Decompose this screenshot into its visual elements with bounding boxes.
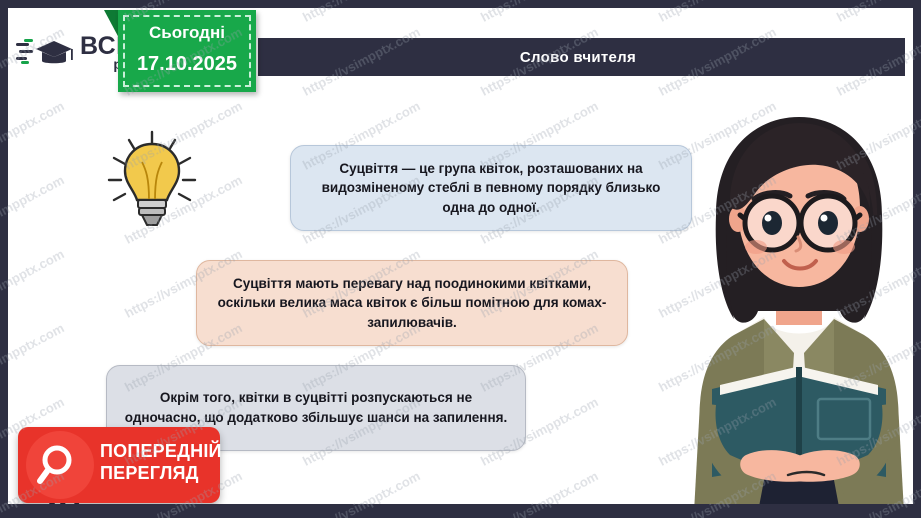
content-box-1: Суцвіття — це група квіток, розташованих… (290, 145, 692, 231)
slide-root: ВСІМ pptx Слово вчителя Сьогодні 17.10.2… (0, 0, 921, 518)
date-ribbon-label: Сьогодні (118, 23, 256, 43)
header-title-bar: Слово вчителя (251, 38, 905, 76)
date-ribbon-date: 17.10.2025 (118, 53, 256, 76)
preview-badge-line-1: ПОПЕРЕДНІЙ (100, 441, 222, 463)
graduation-cap-icon (16, 36, 78, 70)
lightbulb-icon (104, 130, 200, 234)
date-ribbon: Сьогодні 17.10.2025 (118, 10, 256, 92)
page-title: Слово вчителя (520, 49, 636, 66)
content-box-2: Суцвіття мають перевагу над поодинокими … (196, 260, 628, 346)
content-box-2-text: Суцвіття мають перевагу над поодинокими … (197, 274, 627, 333)
content-box-1-text: Суцвіття — це група квіток, розташованих… (291, 159, 691, 218)
content-box-3-text: Окрім того, квітки в суцвітті розпускают… (107, 388, 525, 427)
magnifier-icon (26, 431, 94, 499)
preview-badge-text: ПОПЕРЕДНІЙ ПЕРЕГЛЯД (100, 441, 222, 485)
teacher-reading-book-illustration (668, 103, 913, 504)
preview-badge-line-2: ПЕРЕГЛЯД (100, 463, 222, 485)
preview-badge[interactable]: ПОПЕРЕДНІЙ ПЕРЕГЛЯД (18, 427, 220, 503)
bottom-frame-strip (0, 504, 921, 518)
